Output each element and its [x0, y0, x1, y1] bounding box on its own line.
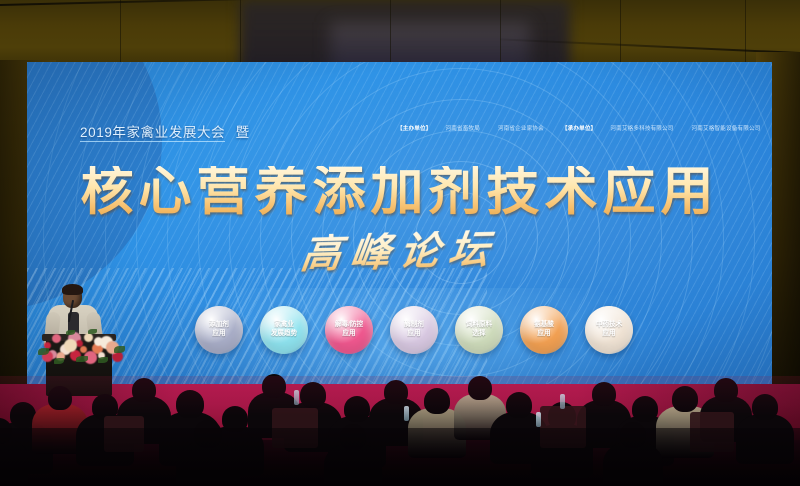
topic-bubble-3[interactable]: 解毒/防控应用 — [325, 306, 373, 354]
organizer-name-2: 河南艾格智能设备有限公司 — [692, 126, 761, 132]
foreground-dark-area — [0, 428, 800, 486]
topic-bubble-label: 饲料原料 — [463, 321, 495, 330]
topic-bubble-row: 添加剂应用家禽业发展趋势解毒/防控应用酶制剂应用饲料原料选择氨基酸应用中药技术应… — [27, 298, 772, 362]
topic-bubble-text: 酶制剂应用 — [401, 321, 427, 338]
topic-bubble-1[interactable]: 添加剂应用 — [195, 306, 243, 354]
topic-bubble-label: 应用 — [206, 330, 232, 339]
banner-eyebrow: 2019年家禽业发展大会 暨 — [80, 121, 250, 141]
topic-bubble-text: 中药技术应用 — [593, 321, 625, 338]
foliage — [54, 358, 64, 364]
flower — [84, 333, 93, 342]
topic-bubble-label: 中药技术 — [593, 321, 625, 330]
conference-hall-photo: 2019年家禽业发展大会 暨 【主办单位】河南省畜牧局河南省企业家协会【承办单位… — [0, 0, 800, 486]
banner-eyebrow-suffix: 暨 — [236, 125, 250, 140]
flower — [64, 339, 77, 352]
foliage — [38, 348, 49, 355]
topic-bubble-label: 氨基酸 — [531, 321, 557, 330]
topic-bubble-text: 解毒/防控应用 — [332, 321, 366, 338]
topic-bubble-label: 应用 — [401, 330, 427, 339]
topic-bubble-label: 解毒/防控 — [332, 321, 366, 330]
topic-bubble-label: 添加剂 — [206, 321, 232, 330]
host-name-1: 河南省畜牧局 — [445, 126, 479, 132]
topic-bubble-label: 应用 — [531, 330, 557, 339]
flower — [80, 346, 87, 353]
topic-bubble-text: 饲料原料选择 — [463, 321, 495, 338]
foliage — [66, 330, 75, 335]
organizer-line: 【主办单位】河南省畜牧局河南省企业家协会【承办单位】河南艾格多科技有限公司河南艾… — [397, 124, 767, 132]
audience-rim-light — [0, 376, 800, 416]
topic-bubble-label: 选择 — [463, 330, 495, 339]
topic-bubble-5[interactable]: 饲料原料选择 — [455, 306, 503, 354]
topic-bubble-label: 应用 — [593, 330, 625, 339]
topic-bubble-label: 酶制剂 — [401, 321, 427, 330]
foliage — [76, 356, 88, 362]
speaker-hair — [62, 284, 83, 295]
flower — [94, 337, 103, 346]
topic-bubble-text: 家禽业发展趋势 — [268, 321, 300, 338]
topic-bubble-2[interactable]: 家禽业发展趋势 — [260, 306, 308, 354]
foliage — [114, 346, 125, 353]
flower — [52, 334, 61, 343]
foliage — [88, 329, 97, 334]
led-screen: 2019年家禽业发展大会 暨 【主办单位】河南省畜牧局河南省企业家协会【承办单位… — [27, 62, 772, 388]
flower-arrangement — [36, 324, 126, 366]
topic-bubble-4[interactable]: 酶制剂应用 — [390, 306, 438, 354]
topic-bubble-label: 家禽业 — [268, 321, 300, 330]
topic-bubble-7[interactable]: 中药技术应用 — [585, 306, 633, 354]
topic-bubble-label: 发展趋势 — [268, 330, 300, 339]
topic-bubble-text: 氨基酸应用 — [531, 321, 557, 338]
banner-title: 核心营养添加剂技术应用 — [27, 166, 772, 219]
topic-bubble-6[interactable]: 氨基酸应用 — [520, 306, 568, 354]
organizer-name-1: 河南艾格多科技有限公司 — [610, 126, 673, 132]
banner-eyebrow-main: 2019年家禽业发展大会 — [80, 125, 225, 142]
topic-bubble-label: 应用 — [332, 330, 366, 339]
host-label: 【主办单位】 — [397, 126, 431, 132]
organizer-label: 【承办单位】 — [562, 126, 596, 132]
topic-bubble-text: 添加剂应用 — [206, 321, 232, 338]
foliage — [98, 357, 108, 363]
host-name-2: 河南省企业家协会 — [498, 126, 544, 132]
